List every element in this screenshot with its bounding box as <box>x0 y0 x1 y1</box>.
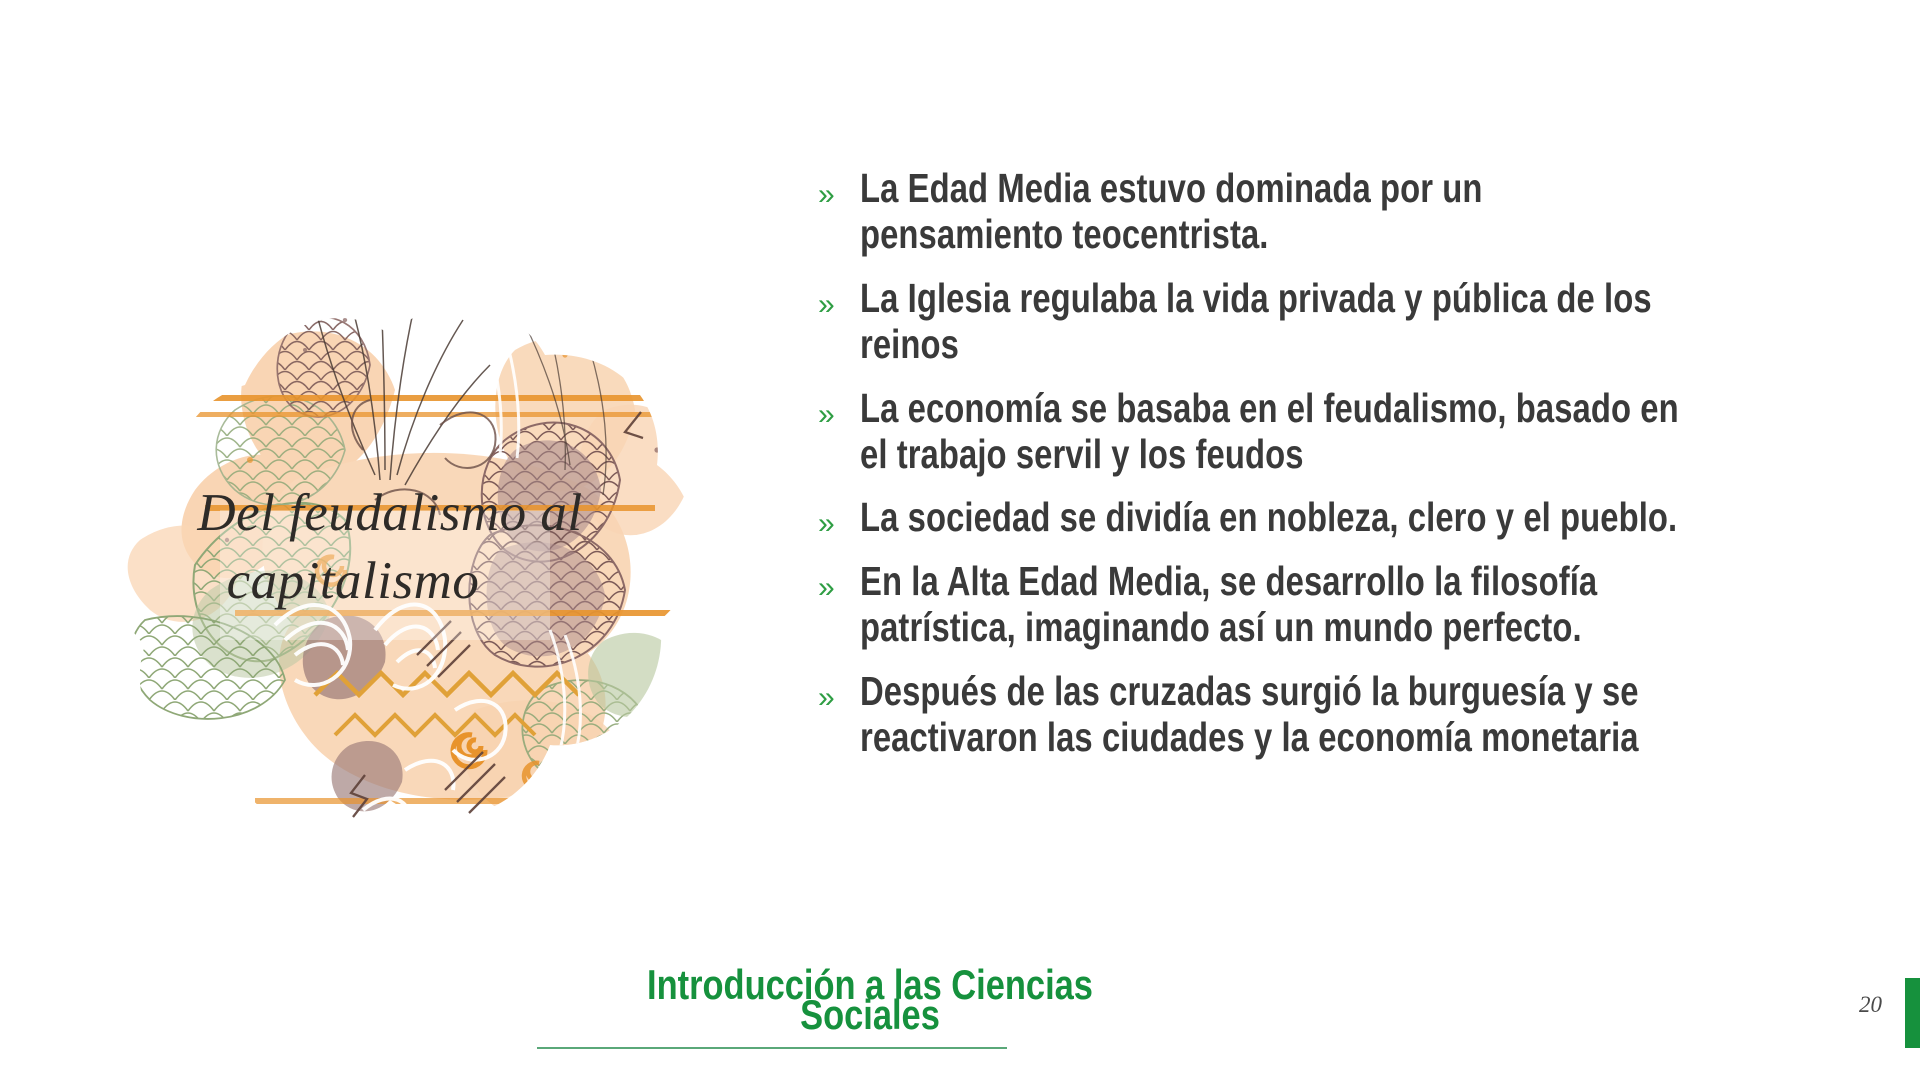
list-item-text: La economía se basaba en el feudalismo, … <box>860 386 1689 478</box>
list-item: » La economía se basaba en el feudalismo… <box>818 386 1896 478</box>
slide-canvas: Del feudalismo al capitalismo » La Edad … <box>0 0 1920 1080</box>
chevron-double-right-icon: » <box>818 386 860 430</box>
list-item: » Después de las cruzadas surgió la burg… <box>818 669 1896 761</box>
list-item: » La Edad Media estuvo dominada por un p… <box>818 166 1896 258</box>
footer-accent-bar <box>1905 978 1920 1048</box>
list-item: » La Iglesia regulaba la vida privada y … <box>818 276 1896 368</box>
chevron-double-right-icon: » <box>818 669 860 713</box>
bullet-list: » La Edad Media estuvo dominada por un p… <box>818 166 1896 779</box>
list-item-text: La Edad Media estuvo dominada por un pen… <box>860 166 1689 258</box>
footer-divider <box>537 1047 1007 1049</box>
page-number: 20 <box>1859 992 1882 1018</box>
chevron-double-right-icon: » <box>818 559 860 603</box>
slide-footer: Introducción a las Ciencias Sociales 20 <box>0 970 1920 1080</box>
list-item-text: En la Alta Edad Media, se desarrollo la … <box>860 559 1689 651</box>
list-item-text: La Iglesia regulaba la vida privada y pú… <box>860 276 1689 368</box>
list-item: » En la Alta Edad Media, se desarrollo l… <box>818 559 1896 651</box>
list-item: » La sociedad se dividía en nobleza, cle… <box>818 495 1896 541</box>
list-item-text: La sociedad se dividía en nobleza, clero… <box>860 495 1689 541</box>
course-title: Introducción a las Ciencias Sociales <box>616 970 1124 1030</box>
list-item-text: Después de las cruzadas surgió la burgue… <box>860 669 1689 761</box>
chevron-double-right-icon: » <box>818 166 860 210</box>
chevron-double-right-icon: » <box>818 495 860 539</box>
title-artwork-panel: Del feudalismo al capitalismo <box>45 150 745 890</box>
chevron-double-right-icon: » <box>818 276 860 320</box>
botanical-collage-image <box>45 150 745 890</box>
